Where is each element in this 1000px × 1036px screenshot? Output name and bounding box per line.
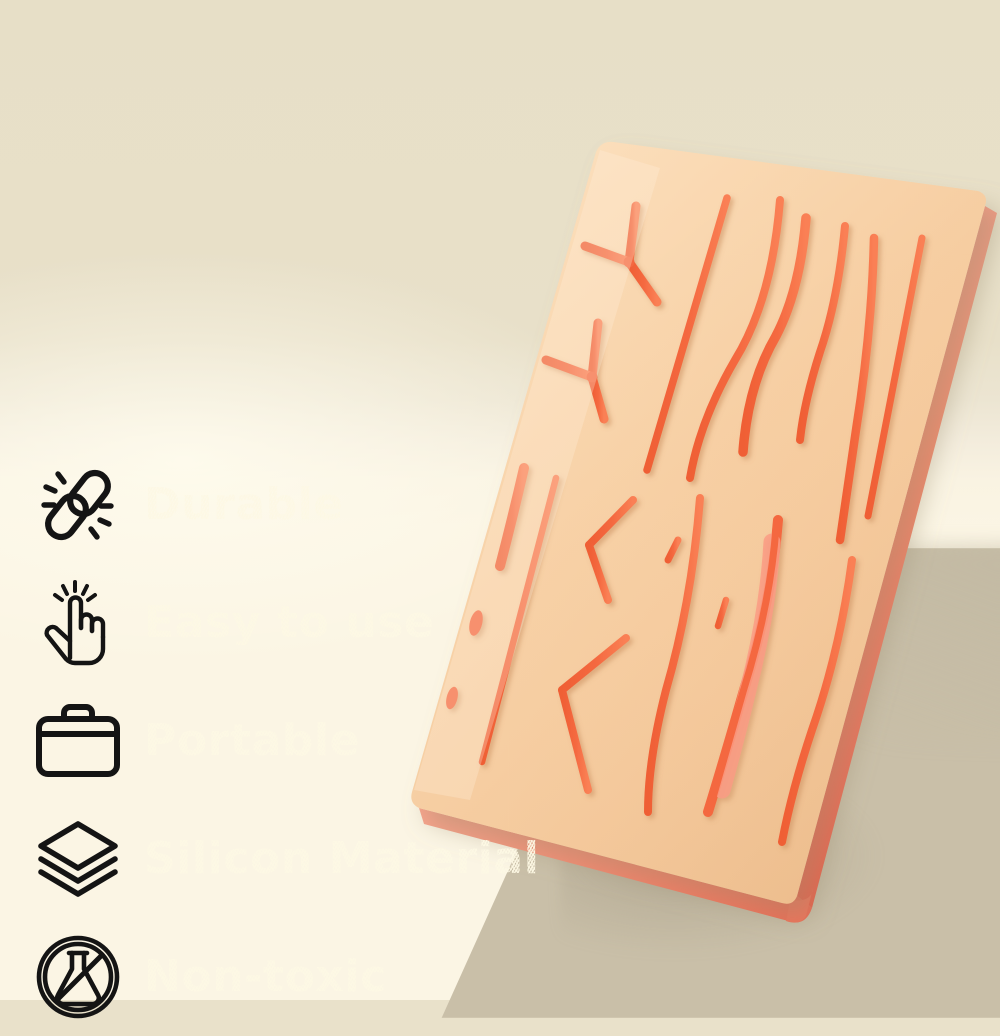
feature-item-non-toxic: Non-toxic bbox=[26, 918, 566, 1036]
chain-link-icon bbox=[26, 453, 130, 557]
feature-label-silicon-material: Silicon Material bbox=[144, 837, 539, 881]
pointing-hand-tap-icon bbox=[26, 571, 130, 675]
feature-item-silicon-material: Silicon Material bbox=[26, 800, 566, 918]
feature-label-non-toxic: Non-toxic bbox=[144, 955, 387, 999]
feature-item-easy-to-use: Easy to use bbox=[26, 564, 566, 682]
no-flask-icon bbox=[26, 925, 130, 1029]
stacked-layers-icon bbox=[26, 807, 130, 911]
briefcase-icon bbox=[26, 689, 130, 793]
floor-shadow-soft bbox=[600, 545, 1000, 745]
feature-item-durable: Durable bbox=[26, 446, 566, 564]
feature-item-portable: Portable bbox=[26, 682, 566, 800]
feature-label-easy-to-use: Easy to use bbox=[144, 601, 434, 645]
shadow-contact bbox=[560, 800, 890, 960]
feature-list: Durable Easy to use bbox=[26, 446, 566, 1036]
feature-label-portable: Portable bbox=[144, 719, 360, 763]
feature-label-durable: Durable bbox=[144, 483, 344, 527]
